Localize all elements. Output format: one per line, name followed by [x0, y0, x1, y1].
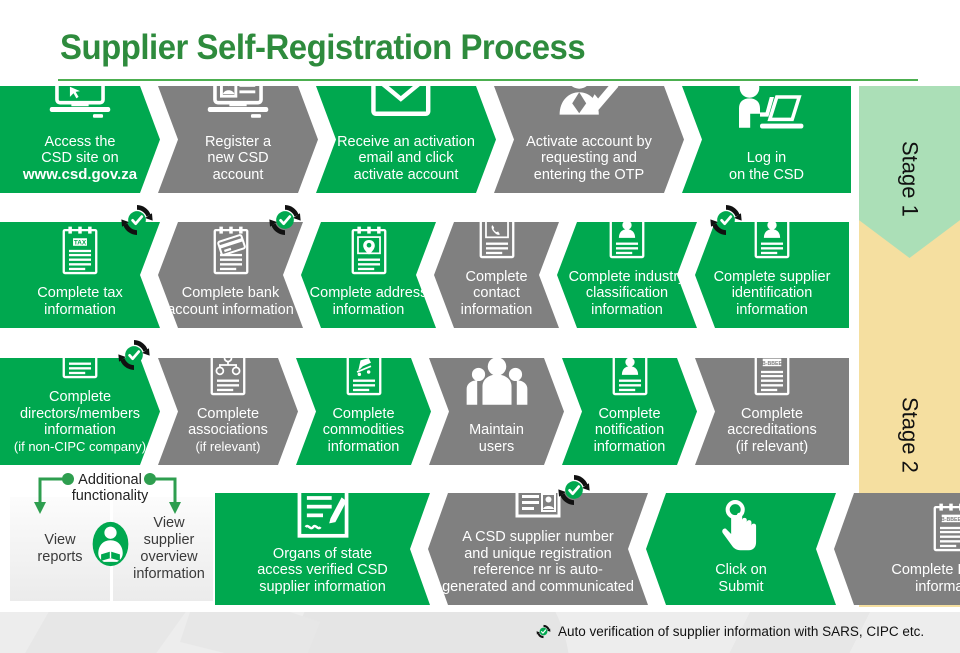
clipboard-phone-icon	[468, 205, 526, 265]
stage-2-label: Stage 2	[859, 350, 960, 520]
laptop-website-icon	[41, 58, 119, 130]
process-step-label: Receive an activationemail and clickacti…	[331, 134, 481, 184]
clipboard-address-icon	[340, 221, 398, 281]
process-step-label: Completecontact information	[434, 269, 559, 319]
process-step[interactable]: Completedirectors/membersinformation(if …	[0, 358, 160, 465]
view-supplier-overview-label: View supplier overview information	[133, 515, 205, 583]
person-laptop-icon	[730, 76, 804, 146]
additional-functionality-title: Additional functionality	[30, 472, 190, 504]
footer-legend-text: Auto verification of supplier informatio…	[558, 624, 924, 639]
clipboard-commodity-icon	[335, 342, 393, 402]
process-step-label: Complete addressinformation	[304, 285, 434, 318]
auto-verification-icon	[557, 473, 591, 507]
stage-1-label: Stage 1	[859, 104, 960, 254]
process-step-label: Log inon the CSD	[723, 150, 810, 183]
process-step-label: Completedirectors/membersinformation(if …	[8, 389, 152, 455]
person-report-icon	[87, 515, 134, 573]
clipboard-person-icon	[743, 205, 801, 265]
clipboard-person-icon	[601, 342, 659, 402]
process-step[interactable]: Access theCSD site onwww.csd.gov.za	[0, 86, 160, 193]
process-step[interactable]: Completenotificationinformation	[562, 358, 697, 465]
process-step-label: Complete B-BBEEinformation	[885, 562, 960, 595]
process-step-label: Maintainusers	[463, 422, 530, 455]
clipboard-tax-icon: TAX	[51, 221, 109, 281]
process-step[interactable]: Complete supplieridentification informat…	[695, 222, 849, 328]
process-step[interactable]: TAXComplete taxinformation	[0, 222, 160, 328]
process-row-3: Completedirectors/membersinformation(if …	[0, 358, 859, 465]
process-step[interactable]: Complete bankaccount information	[158, 222, 303, 328]
clipboard-network-icon	[199, 342, 257, 402]
person-check-icon	[547, 60, 631, 130]
process-step[interactable]: Complete industryclassificationinformati…	[557, 222, 697, 328]
process-step[interactable]: Click onSubmit	[646, 493, 836, 605]
clipboard-person-icon	[51, 325, 109, 385]
signed-document-icon	[292, 480, 354, 542]
process-step-label: Completenotificationinformation	[588, 406, 672, 456]
svg-text:TAX: TAX	[74, 240, 87, 247]
auto-verification-icon	[536, 624, 551, 639]
process-step-label: Activate account byrequesting andenterin…	[520, 134, 658, 184]
auto-verification-icon	[120, 203, 154, 237]
process-step[interactable]: A CSD supplier numberand unique registra…	[428, 493, 648, 605]
clipboard-bbbee-icon: B-BBEE	[743, 342, 801, 402]
svg-text:B-BBEE: B-BBEE	[762, 361, 783, 367]
laptop-id-card-icon	[199, 58, 277, 130]
process-step[interactable]: @Receive an activationemail and clickact…	[316, 86, 496, 193]
view-reports-label: View reports	[37, 532, 82, 566]
process-step-label: Access theCSD site onwww.csd.gov.za	[17, 134, 143, 184]
process-step[interactable]: Completecontact information	[434, 222, 559, 328]
auto-verification-icon	[117, 338, 151, 372]
clipboard-person-icon	[598, 205, 656, 265]
process-step-label: Completeassociations(if relevant)	[182, 406, 274, 456]
process-step-label: Complete taxinformation	[31, 285, 128, 318]
title-divider	[58, 79, 918, 81]
process-step-label: Complete bankaccount information	[161, 285, 300, 318]
process-step-label: Complete industryclassificationinformati…	[563, 269, 692, 319]
clipboard-bank-icon	[202, 221, 260, 281]
process-step[interactable]: Register anew CSDaccount	[158, 86, 318, 193]
process-step-label: Click onSubmit	[709, 562, 773, 595]
process-step-label: A CSD supplier numberand unique registra…	[436, 529, 640, 595]
process-step-label: Complete supplieridentification informat…	[695, 269, 849, 319]
process-step[interactable]: Maintainusers	[429, 358, 564, 465]
slide-root: Supplier Self-Registration Process Stage…	[0, 0, 960, 653]
process-step-label: Register anew CSDaccount	[199, 134, 277, 184]
process-row-2: TAXComplete taxinformationComplete banka…	[0, 222, 859, 328]
process-row-1: Access theCSD site onwww.csd.gov.zaRegis…	[0, 86, 859, 193]
page-title: Supplier Self-Registration Process	[60, 28, 585, 68]
process-step[interactable]: Complete addressinformation	[301, 222, 436, 328]
auto-verification-icon	[709, 203, 743, 237]
process-step[interactable]: Log inon the CSD	[682, 86, 851, 193]
process-step[interactable]: Organs of stateaccess verified CSDsuppli…	[215, 493, 430, 605]
process-step[interactable]: Completecommoditiesinformation	[296, 358, 431, 465]
process-step-label: Organs of stateaccess verified CSDsuppli…	[251, 546, 394, 596]
users-group-icon	[457, 352, 537, 418]
process-step-label: Completecommoditiesinformation	[317, 406, 410, 456]
click-hand-icon	[712, 496, 770, 558]
process-step-label: Complete accreditations(if relevant)	[695, 406, 849, 456]
process-step[interactable]: Activate account byrequesting andenterin…	[494, 86, 684, 193]
process-step[interactable]: B-BBEEComplete accreditations(if relevan…	[695, 358, 849, 465]
auto-verification-icon	[268, 203, 302, 237]
process-step[interactable]: Completeassociations(if relevant)	[158, 358, 298, 465]
footer-legend: Auto verification of supplier informatio…	[536, 624, 924, 639]
